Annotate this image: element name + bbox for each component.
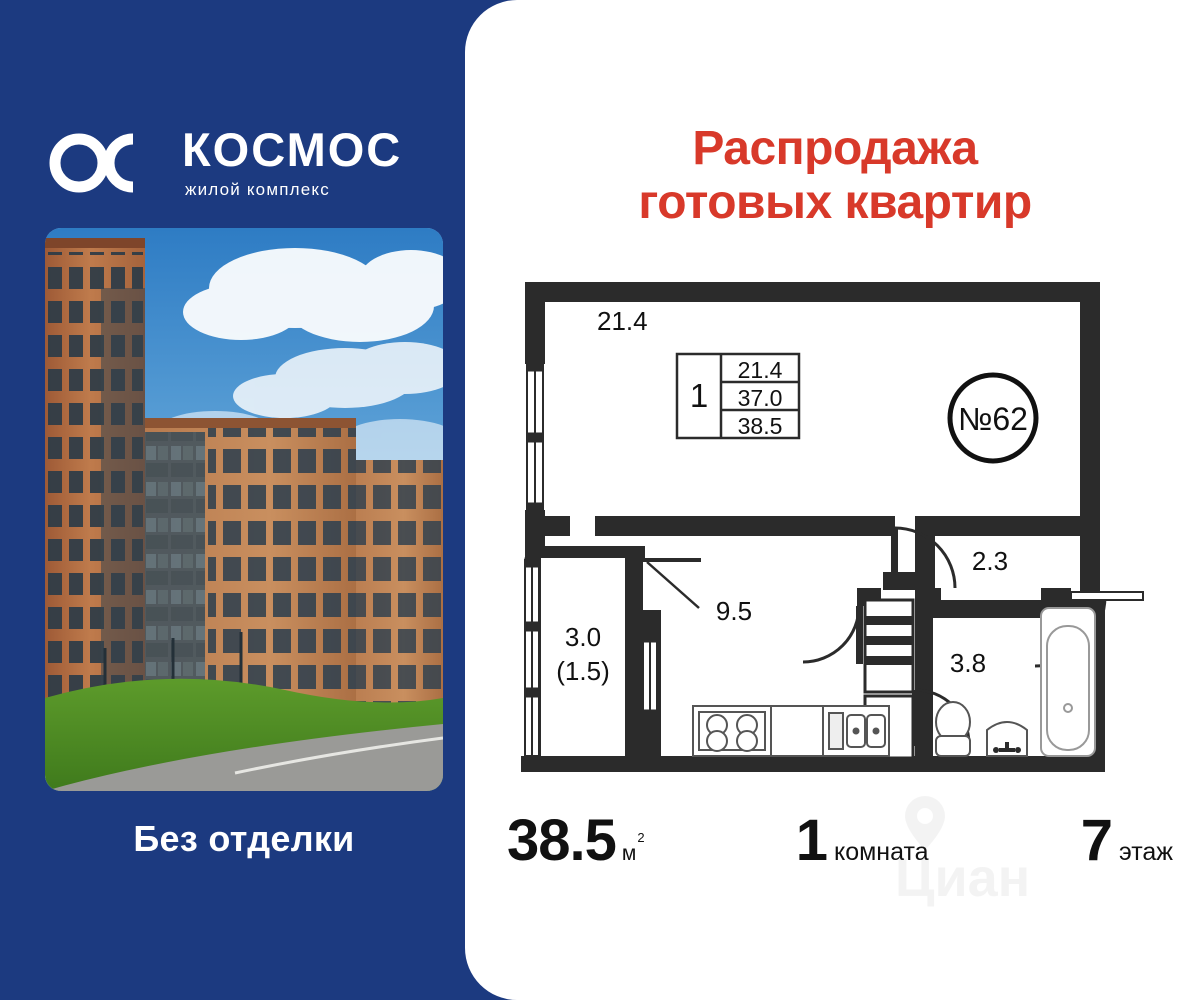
advertisement-page: КОСМОС жилой комплекс <box>0 0 1200 1000</box>
summary-floor-value: 7 <box>1081 812 1112 870</box>
room-label-balcony: 3.0 <box>565 622 601 652</box>
counter-top <box>771 706 823 756</box>
summary-area: 38.5 м2 <box>507 812 644 870</box>
headline-line-2: готовых квартир <box>505 176 1165 230</box>
info-living-area: 21.4 <box>738 357 783 383</box>
apartment-number-badge: №62 <box>950 375 1036 461</box>
unit-m: м <box>622 842 636 865</box>
content-card: Распродажа готовых квартир <box>465 0 1200 1000</box>
brand-name: КОСМОС <box>182 126 402 173</box>
info-rooms: 1 <box>690 377 708 414</box>
window-kitchen <box>643 634 657 718</box>
room-label-balcony-net: (1.5) <box>556 656 609 686</box>
info-table: 1 21.4 37.0 38.5 <box>677 354 799 439</box>
balcony-door <box>643 558 701 608</box>
summary-area-unit: м2 <box>622 841 644 864</box>
room-label-kitchen: 9.5 <box>716 596 752 626</box>
apartment-number: №62 <box>958 401 1028 437</box>
room-label-hall: 2.3 <box>972 546 1008 576</box>
summary-rooms-label: комната <box>834 840 929 865</box>
summary-floor-label: этаж <box>1119 840 1173 865</box>
door-kitchen <box>803 606 863 664</box>
room-label-living-room: 21.4 <box>597 306 648 336</box>
summary-floor: 7 этаж <box>1081 812 1173 870</box>
window-balcony <box>525 558 539 756</box>
room-label-bathroom: 3.8 <box>950 648 986 678</box>
bathtub-icon <box>1041 608 1095 756</box>
apartment-summary: 38.5 м2 1 комната 7 этаж <box>495 812 1185 892</box>
toilet-icon <box>936 702 970 756</box>
summary-rooms-value: 1 <box>796 812 827 870</box>
building-photo <box>45 228 443 791</box>
brand-text: КОСМОС жилой комплекс <box>182 126 402 200</box>
summary-area-value: 38.5 <box>507 812 616 870</box>
info-area-without-balcony: 37.0 <box>738 385 783 411</box>
brand-lockup: КОСМОС жилой комплекс <box>48 118 448 208</box>
washbasin-icon <box>987 722 1027 756</box>
photo-caption: Без отделки <box>45 818 443 860</box>
sink-icon <box>823 706 889 756</box>
infinity-icon <box>48 132 164 194</box>
headline-line-1: Распродажа <box>505 122 1165 176</box>
window-living-room <box>527 362 543 512</box>
stove-icon <box>693 706 771 756</box>
brand-subtitle: жилой комплекс <box>185 180 402 200</box>
summary-rooms: 1 комната <box>796 812 929 870</box>
info-total-area: 38.5 <box>738 413 783 439</box>
floorplan: 1 21.4 37.0 38.5 №62 21.4 9.5 2.3 3.8 3.… <box>485 270 1185 790</box>
left-brand-panel: КОСМОС жилой комплекс <box>0 0 470 1000</box>
unit-superscript: 2 <box>637 830 644 845</box>
page-title: Распродажа готовых квартир <box>505 122 1165 230</box>
